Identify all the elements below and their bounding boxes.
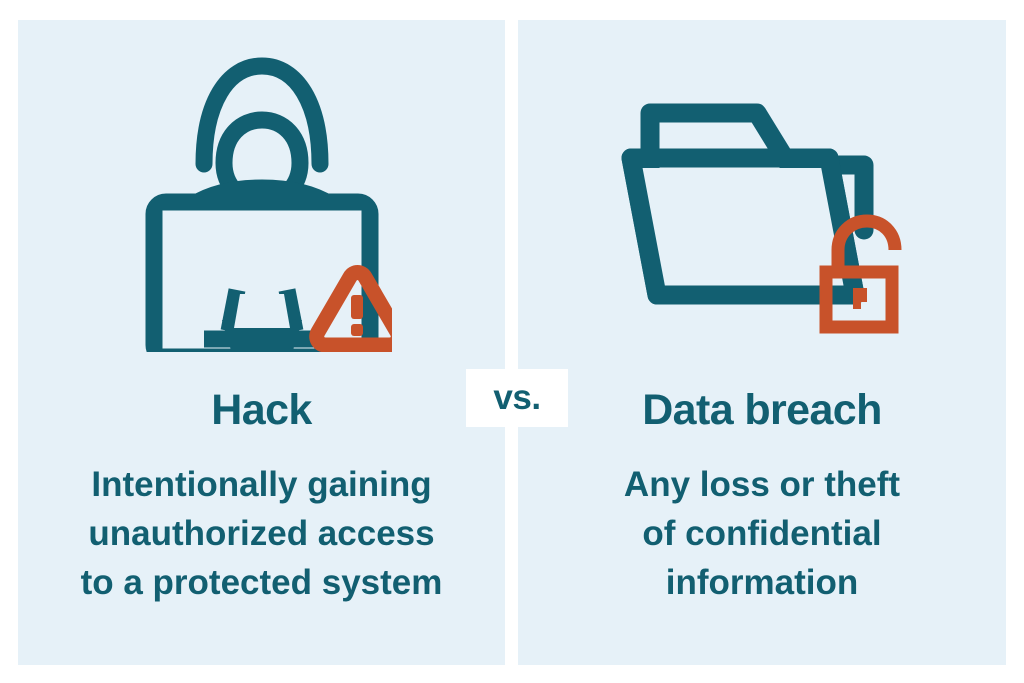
vs-badge: vs.: [466, 369, 568, 427]
description-line: Intentionally gaining: [44, 460, 479, 509]
description-line: Any loss or theft: [544, 460, 980, 509]
hacker-at-computer-with-warning-icon: [132, 32, 392, 352]
vs-label: vs.: [493, 380, 540, 415]
description-data-breach: Any loss or theft of confidential inform…: [518, 460, 1006, 607]
hack-icon-area: [18, 20, 505, 360]
description-hack: Intentionally gaining unauthorized acces…: [18, 460, 505, 607]
comparison-panel-hack: Hack Intentionally gaining unauthorized …: [18, 20, 505, 665]
page-title-data-breach: Data breach: [518, 382, 1006, 438]
comparison-panel-data-breach: Data breach Any loss or theft of confide…: [518, 20, 1006, 665]
description-line: of confidential: [544, 509, 980, 558]
description-line: unauthorized access: [44, 509, 479, 558]
description-line: information: [544, 558, 980, 607]
description-line: to a protected system: [44, 558, 479, 607]
page-title-hack: Hack: [18, 382, 505, 438]
data-breach-icon-area: [518, 20, 1006, 360]
open-folder-with-unlocked-padlock-icon: [617, 90, 907, 340]
infographic-canvas: Hack Intentionally gaining unauthorized …: [0, 0, 1024, 683]
